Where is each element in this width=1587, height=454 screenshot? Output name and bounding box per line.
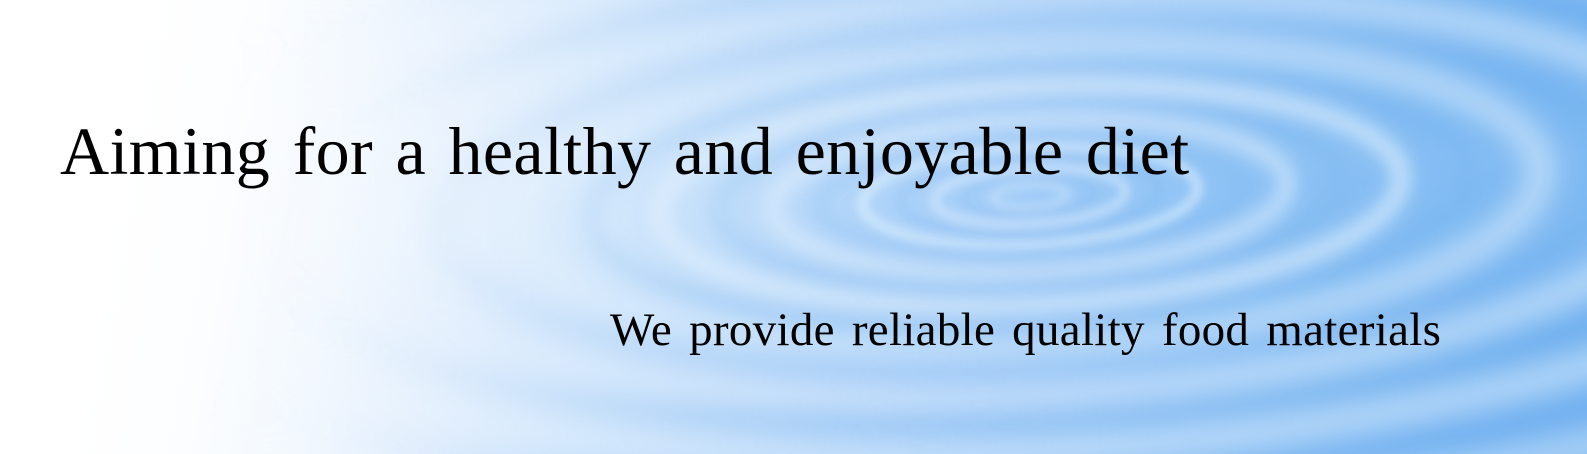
banner-subline: We provide reliable quality food materia… [610, 307, 1441, 354]
ripple-banner: Aiming for a healthy and enjoyable diet … [0, 0, 1587, 454]
banner-headline: Aiming for a healthy and enjoyable diet [60, 117, 1189, 185]
background-vertical-shading [0, 0, 1587, 454]
